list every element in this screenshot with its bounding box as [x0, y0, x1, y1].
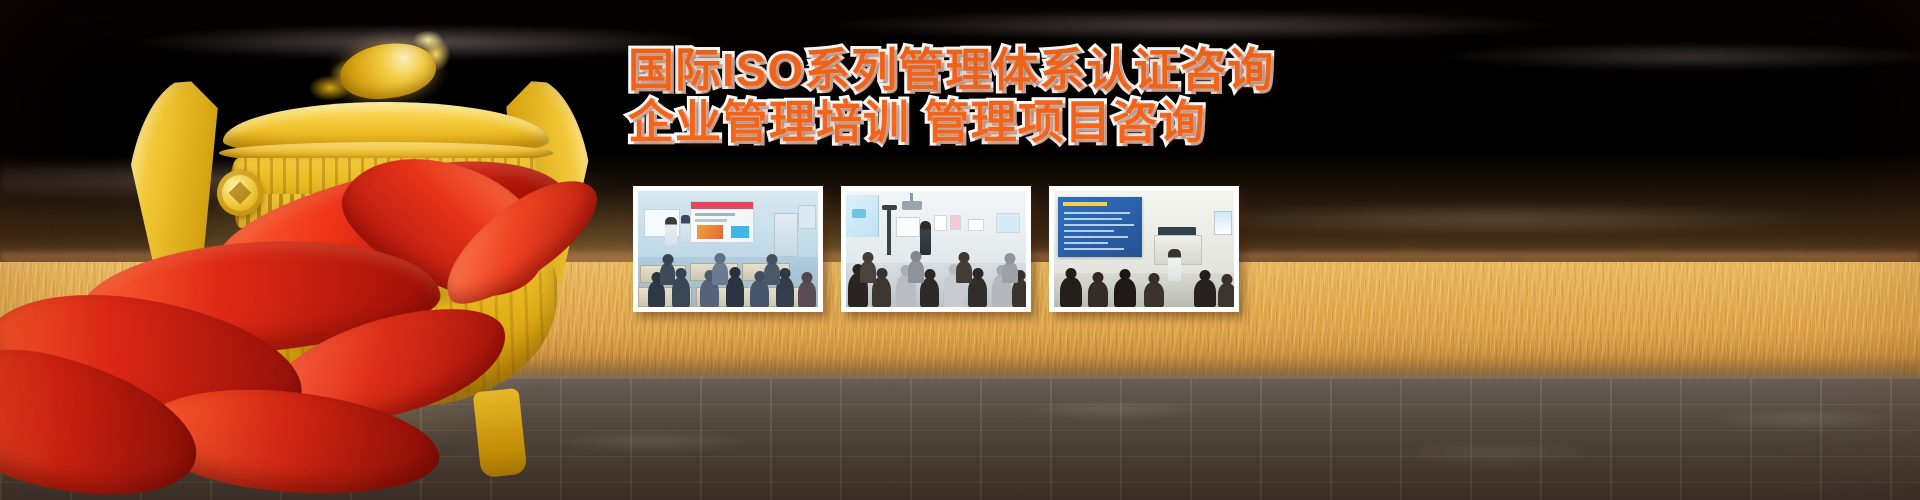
headline-block: 国际ISO系列管理体系认证咨询 企业管理培训 管理项目咨询: [628, 44, 1248, 148]
photo-presentation-slide[interactable]: [1049, 186, 1239, 312]
photo-presentation-slide-image: [1054, 191, 1234, 307]
coin-medallion-right: [493, 170, 539, 216]
headline-line-1: 国际ISO系列管理体系认证咨询: [628, 44, 1248, 96]
headline-line-2: 企业管理培训 管理项目咨询: [628, 96, 1248, 148]
photo-training-classroom[interactable]: [633, 186, 823, 312]
photo-training-classroom-image: [638, 191, 818, 307]
ding-leg-left: [243, 388, 298, 480]
photo-lecture-audience[interactable]: [841, 186, 1031, 312]
golden-ding-cauldron: [95, 18, 615, 458]
photo-lecture-audience-image: [846, 191, 1026, 307]
photo-strip: [633, 186, 1239, 312]
iso-consulting-banner: 国际ISO系列管理体系认证咨询 企业管理培训 管理项目咨询: [0, 0, 1920, 500]
ding-dragon-relief: [227, 250, 543, 390]
coin-medallion-left: [217, 170, 263, 216]
dragon-finial-icon: [310, 18, 460, 110]
ding-leg-right: [473, 388, 528, 478]
